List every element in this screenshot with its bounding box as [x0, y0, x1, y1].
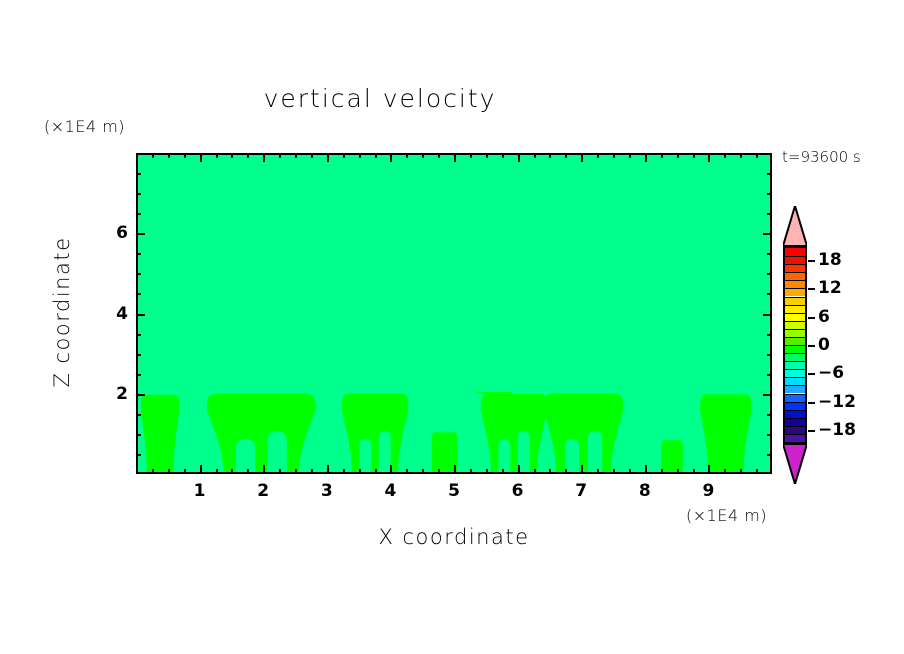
colorbar-band	[785, 264, 805, 272]
x-axis-top-minor-tick	[231, 153, 233, 158]
colorbar-band	[785, 345, 805, 353]
y-axis-right-minor-tick	[767, 374, 772, 376]
x-axis-minor-tick	[184, 469, 186, 474]
y-axis-right-minor-tick	[767, 253, 772, 255]
colorbar-band-separator	[785, 329, 805, 330]
x-axis-minor-tick	[613, 469, 615, 474]
colorbar-band-separator	[785, 353, 805, 354]
x-axis-top-minor-tick	[359, 153, 361, 158]
y-axis-right-minor-tick	[767, 454, 772, 456]
y-axis-minor-tick	[136, 434, 141, 436]
colorbar-band-separator	[785, 264, 805, 265]
x-axis-minor-tick	[152, 469, 154, 474]
colorbar-band-separator	[785, 418, 805, 419]
x-axis-minor-tick	[502, 469, 504, 474]
x-axis-tick-label: 1	[194, 481, 206, 501]
timestamp-label: t=93600 s	[782, 148, 861, 166]
x-axis-minor-tick	[247, 469, 249, 474]
colorbar-band	[785, 337, 805, 345]
colorbar-band-separator	[785, 345, 805, 346]
x-axis-tick-label: 6	[512, 481, 524, 501]
colorbar-band-separator	[785, 272, 805, 273]
colorbar-band-separator	[785, 337, 805, 338]
colorbar-tick	[808, 402, 815, 404]
x-axis-minor-tick	[629, 469, 631, 474]
x-axis-tick-label: 4	[384, 481, 396, 501]
colorbar-band-separator	[785, 394, 805, 395]
colorbar-band	[785, 248, 805, 256]
x-axis-minor-tick	[470, 469, 472, 474]
x-axis-top-minor-tick	[565, 153, 567, 158]
colorbar-band-separator	[785, 361, 805, 362]
colorbar-band-separator	[785, 434, 805, 435]
x-axis-minor-tick	[438, 469, 440, 474]
x-axis-minor-tick	[565, 469, 567, 474]
colorbar-band	[785, 410, 805, 418]
x-axis-major-tick	[708, 465, 710, 474]
x-axis-top-minor-tick	[311, 153, 313, 158]
x-axis-minor-tick	[486, 469, 488, 474]
colorbar-tick-label: 6	[818, 307, 830, 327]
y-axis-minor-tick	[136, 454, 141, 456]
x-axis-minor-tick	[693, 469, 695, 474]
x-axis-minor-tick	[168, 469, 170, 474]
colorbar-band	[785, 418, 805, 426]
y-axis-minor-tick	[136, 374, 141, 376]
y-axis-right-minor-tick	[767, 173, 772, 175]
x-axis-top-minor-tick	[406, 153, 408, 158]
x-axis-top-minor-tick	[613, 153, 615, 158]
x-axis-tick-label: 9	[702, 481, 714, 501]
colorbar-band-separator	[785, 280, 805, 281]
y-axis-right-minor-tick	[767, 434, 772, 436]
colorbar-band	[785, 353, 805, 361]
x-axis-top-minor-tick	[740, 153, 742, 158]
colorbar-band	[785, 369, 805, 377]
colorbar-band-separator	[785, 410, 805, 411]
colorbar-band	[785, 313, 805, 321]
colorbar-bands	[783, 246, 807, 444]
page-title: vertical velocity	[0, 84, 760, 113]
x-axis-minor-tick	[756, 469, 758, 474]
x-axis-minor-tick	[740, 469, 742, 474]
contour-field	[138, 155, 770, 472]
y-axis-major-tick	[136, 394, 145, 396]
colorbar-band	[785, 321, 805, 329]
y-axis-right-minor-tick	[767, 293, 772, 295]
x-axis-top-minor-tick	[534, 153, 536, 158]
x-axis-minor-tick	[422, 469, 424, 474]
colorbar-tick-label: −6	[818, 363, 844, 383]
x-axis-top-minor-tick	[295, 153, 297, 158]
y-axis-right-minor-tick	[767, 334, 772, 336]
colorbar-tick-label: −18	[818, 420, 856, 440]
y-axis-right-minor-tick	[767, 273, 772, 275]
x-axis-minor-tick	[724, 469, 726, 474]
x-axis-minor-tick	[343, 469, 345, 474]
x-axis-major-tick	[390, 465, 392, 474]
x-axis-top-minor-tick	[597, 153, 599, 158]
colorbar-band	[785, 256, 805, 264]
x-axis-top-major-tick	[518, 153, 520, 162]
colorbar-band-separator	[785, 426, 805, 427]
y-axis-units-label: (×1E4 m)	[44, 117, 125, 136]
colorbar-band-separator	[785, 377, 805, 378]
colorbar-band	[785, 402, 805, 410]
x-axis-minor-tick	[534, 469, 536, 474]
x-axis-top-minor-tick	[549, 153, 551, 158]
x-axis-tick-label: 8	[639, 481, 651, 501]
colorbar-band-separator	[785, 369, 805, 370]
x-axis-top-minor-tick	[661, 153, 663, 158]
colorbar-band	[785, 288, 805, 296]
x-axis-top-major-tick	[263, 153, 265, 162]
colorbar-tick-label: −12	[818, 392, 856, 412]
y-axis-title: Z coordinate	[50, 212, 74, 412]
x-axis-top-major-tick	[390, 153, 392, 162]
y-axis-minor-tick	[136, 414, 141, 416]
x-axis-minor-tick	[216, 469, 218, 474]
x-axis-top-major-tick	[581, 153, 583, 162]
x-axis-minor-tick	[375, 469, 377, 474]
y-axis-right-minor-tick	[767, 354, 772, 356]
x-axis-top-minor-tick	[502, 153, 504, 158]
x-axis-top-minor-tick	[724, 153, 726, 158]
x-axis-minor-tick	[661, 469, 663, 474]
colorbar-band-separator	[785, 321, 805, 322]
x-axis-top-minor-tick	[756, 153, 758, 158]
colorbar-band-separator	[785, 313, 805, 314]
x-axis-tick-label: 3	[321, 481, 333, 501]
x-axis-top-minor-tick	[343, 153, 345, 158]
colorbar-band	[785, 394, 805, 402]
x-axis-minor-tick	[359, 469, 361, 474]
x-axis-top-minor-tick	[184, 153, 186, 158]
colorbar-band	[785, 361, 805, 369]
x-axis-minor-tick	[597, 469, 599, 474]
x-axis-top-minor-tick	[279, 153, 281, 158]
colorbar-band	[785, 377, 805, 385]
x-axis-top-major-tick	[327, 153, 329, 162]
y-axis-tick-label: 6	[104, 223, 128, 243]
x-axis-minor-tick	[279, 469, 281, 474]
x-axis-top-major-tick	[645, 153, 647, 162]
y-axis-minor-tick	[136, 293, 141, 295]
colorbar-tick	[808, 373, 815, 375]
x-axis-top-minor-tick	[168, 153, 170, 158]
colorbar-band-separator	[785, 402, 805, 403]
x-axis-major-tick	[263, 465, 265, 474]
colorbar-tick-label: 0	[818, 335, 830, 355]
colorbar-arrow-bottom	[783, 444, 807, 484]
colorbar-tick	[808, 345, 815, 347]
colorbar-band	[785, 305, 805, 313]
y-axis-minor-tick	[136, 253, 141, 255]
y-axis-right-minor-tick	[767, 414, 772, 416]
x-axis-top-minor-tick	[486, 153, 488, 158]
y-axis-major-tick	[136, 314, 145, 316]
y-axis-minor-tick	[136, 213, 141, 215]
colorbar-band-separator	[785, 297, 805, 298]
x-axis-minor-tick	[549, 469, 551, 474]
colorbar-band	[785, 272, 805, 280]
y-axis-minor-tick	[136, 354, 141, 356]
x-axis-minor-tick	[406, 469, 408, 474]
x-axis-units-label: (×1E4 m)	[686, 506, 767, 525]
x-axis-tick-label: 5	[448, 481, 460, 501]
y-axis-right-major-tick	[763, 314, 772, 316]
y-axis-right-minor-tick	[767, 193, 772, 195]
x-axis-minor-tick	[295, 469, 297, 474]
x-axis-top-minor-tick	[216, 153, 218, 158]
y-axis-right-minor-tick	[767, 213, 772, 215]
y-axis-right-major-tick	[763, 394, 772, 396]
x-axis-top-major-tick	[454, 153, 456, 162]
x-axis-minor-tick	[311, 469, 313, 474]
colorbar-band	[785, 297, 805, 305]
colorbar-band-separator	[785, 385, 805, 386]
colorbar-tick-label: 12	[818, 278, 842, 298]
x-axis-top-minor-tick	[629, 153, 631, 158]
x-axis-tick-label: 2	[257, 481, 269, 501]
x-axis-top-minor-tick	[470, 153, 472, 158]
y-axis-major-tick	[136, 233, 145, 235]
colorbar-band	[785, 434, 805, 442]
x-axis-minor-tick	[677, 469, 679, 474]
colorbar-band	[785, 426, 805, 434]
colorbar-band	[785, 329, 805, 337]
colorbar-band	[785, 280, 805, 288]
x-axis-tick-label: 7	[575, 481, 587, 501]
y-axis-right-major-tick	[763, 233, 772, 235]
colorbar-band-separator	[785, 256, 805, 257]
x-axis-top-minor-tick	[375, 153, 377, 158]
y-axis-minor-tick	[136, 334, 141, 336]
x-axis-top-minor-tick	[677, 153, 679, 158]
x-axis-minor-tick	[231, 469, 233, 474]
x-axis-major-tick	[454, 465, 456, 474]
colorbar-band-separator	[785, 305, 805, 306]
y-axis-minor-tick	[136, 173, 141, 175]
colorbar-tick	[808, 288, 815, 290]
colorbar-tick	[808, 260, 815, 262]
y-axis-minor-tick	[136, 273, 141, 275]
x-axis-title: X coordinate	[136, 525, 772, 549]
x-axis-top-minor-tick	[152, 153, 154, 158]
x-axis-major-tick	[518, 465, 520, 474]
colorbar-arrow-top	[783, 206, 807, 246]
colorbar-band	[785, 385, 805, 393]
x-axis-major-tick	[581, 465, 583, 474]
colorbar-tick	[808, 430, 815, 432]
y-axis-minor-tick	[136, 193, 141, 195]
y-axis-tick-label: 4	[104, 304, 128, 324]
colorbar-band-separator	[785, 288, 805, 289]
x-axis-top-major-tick	[708, 153, 710, 162]
x-axis-major-tick	[200, 465, 202, 474]
x-axis-top-minor-tick	[422, 153, 424, 158]
y-axis-tick-label: 2	[104, 384, 128, 404]
x-axis-top-major-tick	[200, 153, 202, 162]
colorbar-tick	[808, 317, 815, 319]
contour-plot-area	[136, 153, 772, 474]
x-axis-top-minor-tick	[247, 153, 249, 158]
x-axis-top-minor-tick	[438, 153, 440, 158]
x-axis-major-tick	[645, 465, 647, 474]
x-axis-top-minor-tick	[693, 153, 695, 158]
colorbar-tick-label: 18	[818, 250, 842, 270]
x-axis-major-tick	[327, 465, 329, 474]
